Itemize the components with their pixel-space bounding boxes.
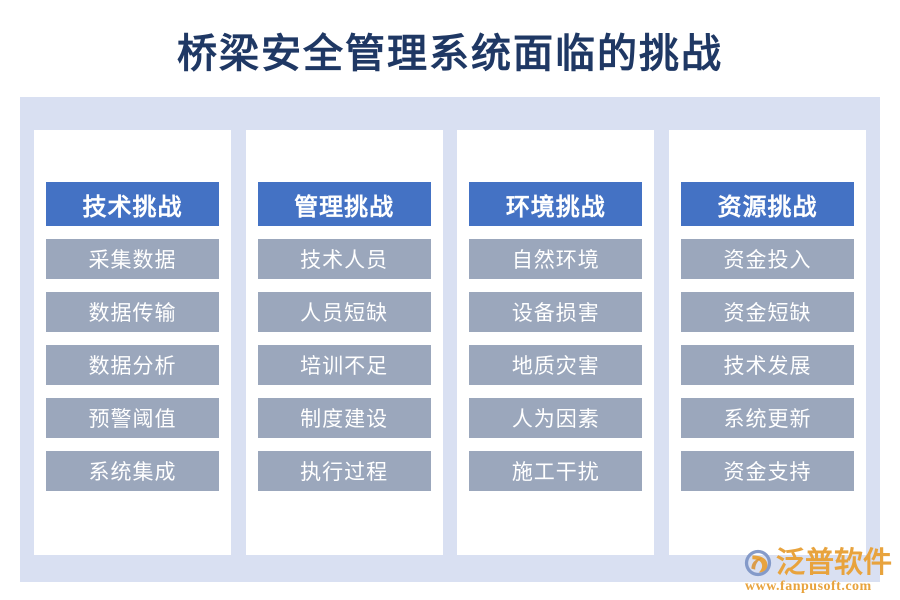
column-item[interactable]: 系统集成 [46, 451, 219, 491]
brand-watermark: 泛普软件 www.fanpusoft.com [743, 548, 892, 594]
column-item[interactable]: 技术人员 [258, 239, 431, 279]
column-item[interactable]: 人员短缺 [258, 292, 431, 332]
column-item[interactable]: 施工干扰 [469, 451, 642, 491]
column-item[interactable]: 系统更新 [681, 398, 854, 438]
column-item[interactable]: 资金投入 [681, 239, 854, 279]
column-item[interactable]: 人为因素 [469, 398, 642, 438]
challenges-panel: 技术挑战 采集数据 数据传输 数据分析 预警阈值 系统集成 管理挑战 技术人员 … [20, 97, 880, 582]
column-header[interactable]: 管理挑战 [258, 182, 431, 226]
challenge-column-technical: 技术挑战 采集数据 数据传输 数据分析 预警阈值 系统集成 [34, 130, 231, 555]
brand-logo-row: 泛普软件 [743, 548, 892, 578]
brand-name: 泛普软件 [776, 549, 892, 578]
column-item[interactable]: 执行过程 [258, 451, 431, 491]
fanpu-swirl-logo-icon [743, 548, 773, 578]
column-item[interactable]: 制度建设 [258, 398, 431, 438]
column-item[interactable]: 数据传输 [46, 292, 219, 332]
column-item[interactable]: 培训不足 [258, 345, 431, 385]
column-header[interactable]: 资源挑战 [681, 182, 854, 226]
column-item[interactable]: 技术发展 [681, 345, 854, 385]
column-item[interactable]: 采集数据 [46, 239, 219, 279]
column-item[interactable]: 预警阈值 [46, 398, 219, 438]
column-item[interactable]: 自然环境 [469, 239, 642, 279]
column-item[interactable]: 数据分析 [46, 345, 219, 385]
page-title: 桥梁安全管理系统面临的挑战 [0, 28, 900, 80]
column-header[interactable]: 技术挑战 [46, 182, 219, 226]
column-item[interactable]: 资金支持 [681, 451, 854, 491]
challenge-column-environment: 环境挑战 自然环境 设备损害 地质灾害 人为因素 施工干扰 [457, 130, 654, 555]
challenge-column-management: 管理挑战 技术人员 人员短缺 培训不足 制度建设 执行过程 [246, 130, 443, 555]
column-header[interactable]: 环境挑战 [469, 182, 642, 226]
column-item[interactable]: 设备损害 [469, 292, 642, 332]
slide-canvas: 桥梁安全管理系统面临的挑战 技术挑战 采集数据 数据传输 数据分析 预警阈值 系… [0, 0, 900, 600]
brand-url: www.fanpusoft.com [745, 580, 872, 594]
challenge-column-resource: 资源挑战 资金投入 资金短缺 技术发展 系统更新 资金支持 [669, 130, 866, 555]
column-item[interactable]: 资金短缺 [681, 292, 854, 332]
column-item[interactable]: 地质灾害 [469, 345, 642, 385]
